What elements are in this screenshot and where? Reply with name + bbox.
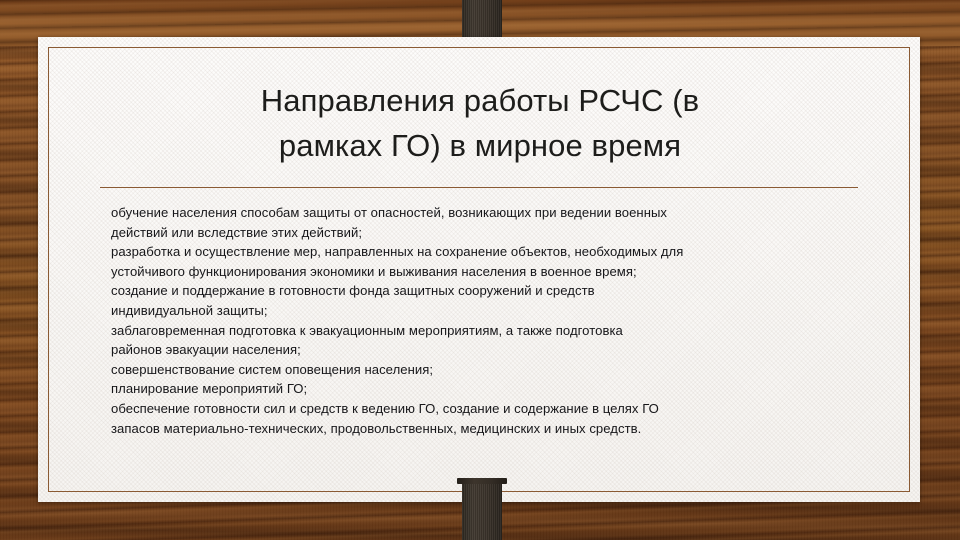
decorative-strap-bottom (462, 478, 502, 540)
presentation-slide: Направления работы РСЧС (в рамках ГО) в … (0, 0, 960, 540)
title-divider-rule (100, 187, 858, 188)
slide-title: Направления работы РСЧС (в рамках ГО) в … (110, 78, 850, 168)
slide-body-text: обучение населения способам защиты от оп… (111, 203, 851, 438)
decorative-strap-bottom-cap (457, 478, 507, 484)
slide-content: Направления работы РСЧС (в рамках ГО) в … (0, 0, 960, 540)
